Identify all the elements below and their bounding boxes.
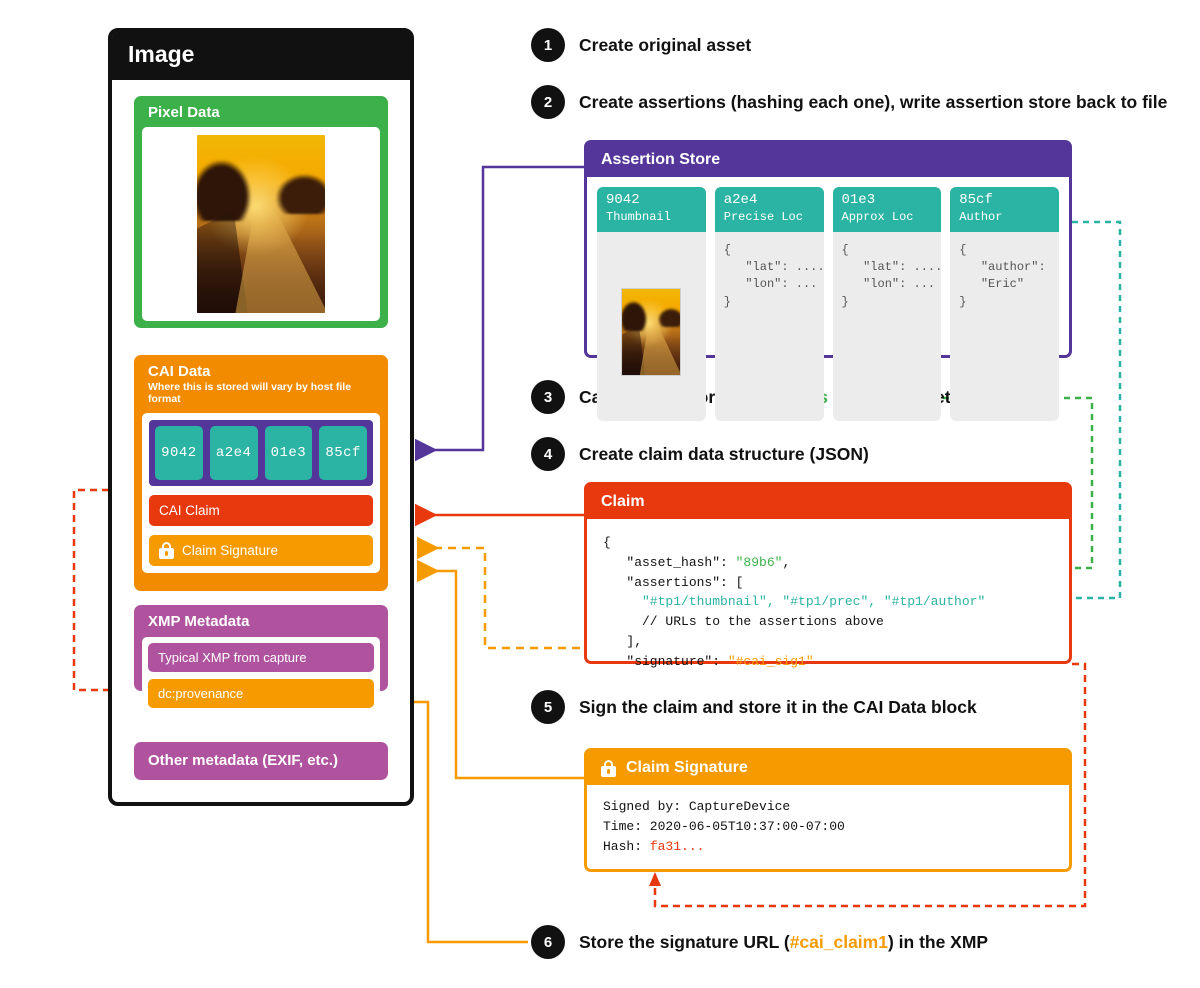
assertion-store-panel: Assertion Store 9042 Thumbnail a2e4 Prec… — [584, 140, 1072, 358]
assertion-card-id: 9042 — [606, 192, 697, 210]
assertion-card-label: Author — [959, 210, 1050, 225]
claim-key-asset-hash: "asset_hash": — [603, 555, 736, 570]
step-text-after: ) in the XMP — [888, 932, 988, 952]
cai-data-title-text: CAI Data — [148, 363, 211, 380]
pixel-data-body — [142, 127, 380, 321]
photo-road — [235, 203, 325, 313]
connector-signature-to-cai-block — [422, 571, 584, 778]
cai-hash-chip[interactable]: a2e4 — [210, 426, 258, 480]
claim-comment: // URLs to the assertions above — [603, 614, 884, 629]
assertion-card-body: { "author": "Eric" } — [950, 232, 1059, 322]
other-metadata-panel: Other metadata (EXIF, etc.) — [134, 742, 388, 780]
claim-comma: , — [782, 555, 790, 570]
claim-value-signature: "#cai_sig1" — [728, 654, 814, 669]
assertion-card-id: a2e4 — [724, 192, 815, 210]
step-label: Store the signature URL (#cai_claim1) in… — [579, 932, 988, 953]
assertion-card-thumbnail[interactable]: 9042 Thumbnail — [597, 187, 706, 421]
cai-data-subtitle: Where this is stored will vary by host f… — [148, 381, 374, 405]
page-title: Image — [128, 41, 194, 68]
assertion-thumbnail-image — [621, 288, 681, 376]
assertion-card-label: Precise Loc — [724, 210, 815, 225]
assertion-card-list: 9042 Thumbnail a2e4 Precise Loc { "lat":… — [587, 177, 1069, 431]
assertion-store-title: Assertion Store — [587, 143, 1069, 177]
cai-assertion-strip: 9042 a2e4 01e3 85cf — [149, 420, 373, 486]
step-2: 2 Create assertions (hashing each one), … — [531, 85, 1167, 119]
xmp-metadata-title: XMP Metadata — [136, 607, 386, 636]
step-6: 6 Store the signature URL (#cai_claim1) … — [531, 925, 988, 959]
cai-hash-chip[interactable]: 85cf — [319, 426, 367, 480]
step-number: 4 — [531, 437, 565, 471]
assertion-card-body — [597, 232, 706, 422]
lock-icon — [601, 760, 616, 777]
cai-hash-chip[interactable]: 9042 — [155, 426, 203, 480]
assertion-card-label: Approx Loc — [842, 210, 933, 225]
step-label: Create assertions (hashing each one), wr… — [579, 92, 1167, 113]
xmp-metadata-panel: XMP Metadata Typical XMP from capture dc… — [134, 605, 388, 691]
xmp-row-provenance[interactable]: dc:provenance — [148, 679, 374, 708]
step-text-before: Store the signature URL ( — [579, 932, 790, 952]
connector-sig-hash-arrowhead — [649, 872, 661, 886]
step-number: 1 — [531, 28, 565, 62]
claim-value-assertions: "#tp1/thumbnail", "#tp1/prec", "#tp1/aut… — [603, 594, 985, 609]
claim-key-assertions: "assertions": [ — [603, 575, 743, 590]
assertion-card-body: { "lat": .... "lon": ... } — [833, 232, 942, 322]
assertion-card-header: 01e3 Approx Loc — [833, 187, 942, 232]
step-label: Create original asset — [579, 35, 751, 56]
assertion-card-precise-loc[interactable]: a2e4 Precise Loc { "lat": .... "lon": ..… — [715, 187, 824, 421]
step-number: 2 — [531, 85, 565, 119]
hash-value: fa31... — [650, 839, 705, 854]
photo-road — [640, 322, 682, 375]
claim-value-asset-hash: "89b6" — [736, 555, 783, 570]
lock-icon — [159, 542, 174, 559]
asset-photo — [197, 135, 325, 313]
time-line: Time: 2020-06-05T10:37:00-07:00 — [603, 819, 845, 834]
step-1: 1 Create original asset — [531, 28, 751, 62]
claim-json-code: { "asset_hash": "89b6", "assertions": [ … — [587, 519, 1069, 685]
connector-step6-to-provenance — [398, 702, 528, 942]
assertion-card-header: 9042 Thumbnail — [597, 187, 706, 232]
step-5: 5 Sign the claim and store it in the CAI… — [531, 690, 977, 724]
claim-panel: Claim { "asset_hash": "89b6", "assertion… — [584, 482, 1072, 664]
assertion-card-header: 85cf Author — [950, 187, 1059, 232]
claim-signature-title: Claim Signature — [626, 759, 748, 777]
cai-claim-signature-bar[interactable]: Claim Signature — [149, 535, 373, 566]
step-4: 4 Create claim data structure (JSON) — [531, 437, 869, 471]
cai-data-title: CAI Data Where this is stored will vary … — [136, 357, 386, 411]
assertion-card-id: 01e3 — [842, 192, 933, 210]
step-number: 3 — [531, 380, 565, 414]
claim-signature-details: Signed by: CaptureDevice Time: 2020-06-0… — [587, 785, 1069, 869]
claim-title: Claim — [587, 485, 1069, 519]
assertion-card-id: 85cf — [959, 192, 1050, 210]
assertion-card-label: Thumbnail — [606, 210, 697, 225]
step-number: 5 — [531, 690, 565, 724]
cai-data-panel: CAI Data Where this is stored will vary … — [134, 355, 388, 591]
cai-claim-bar[interactable]: CAI Claim — [149, 495, 373, 526]
cai-data-body: 9042 a2e4 01e3 85cf CAI Claim Claim Sign… — [142, 413, 380, 573]
other-metadata-label: Other metadata (EXIF, etc.) — [136, 752, 350, 769]
claim-array-close: ], — [603, 634, 642, 649]
claim-key-signature: "signature": — [603, 654, 728, 669]
cai-hash-chip[interactable]: 01e3 — [265, 426, 313, 480]
cai-claim-signature-label: Claim Signature — [182, 543, 278, 558]
xmp-row-typical[interactable]: Typical XMP from capture — [148, 643, 374, 672]
step-highlight-claim-url: #cai_claim1 — [790, 932, 888, 952]
pixel-data-title: Pixel Data — [136, 98, 386, 127]
step-number: 6 — [531, 925, 565, 959]
assertion-card-approx-loc[interactable]: 01e3 Approx Loc { "lat": .... "lon": ...… — [833, 187, 942, 421]
xmp-metadata-body: Typical XMP from capture dc:provenance — [142, 637, 380, 714]
pixel-data-panel: Pixel Data — [134, 96, 388, 328]
hash-label: Hash: — [603, 839, 650, 854]
assertion-card-header: a2e4 Precise Loc — [715, 187, 824, 232]
step-label: Sign the claim and store it in the CAI D… — [579, 697, 977, 718]
claim-line-open: { — [603, 535, 611, 550]
assertion-card-body: { "lat": .... "lon": ... } — [715, 232, 824, 322]
claim-signature-title-row: Claim Signature — [587, 751, 1069, 785]
step-label: Create claim data structure (JSON) — [579, 444, 869, 465]
assertion-card-author[interactable]: 85cf Author { "author": "Eric" } — [950, 187, 1059, 421]
claim-signature-panel: Claim Signature Signed by: CaptureDevice… — [584, 748, 1072, 872]
signed-by-line: Signed by: CaptureDevice — [603, 799, 790, 814]
